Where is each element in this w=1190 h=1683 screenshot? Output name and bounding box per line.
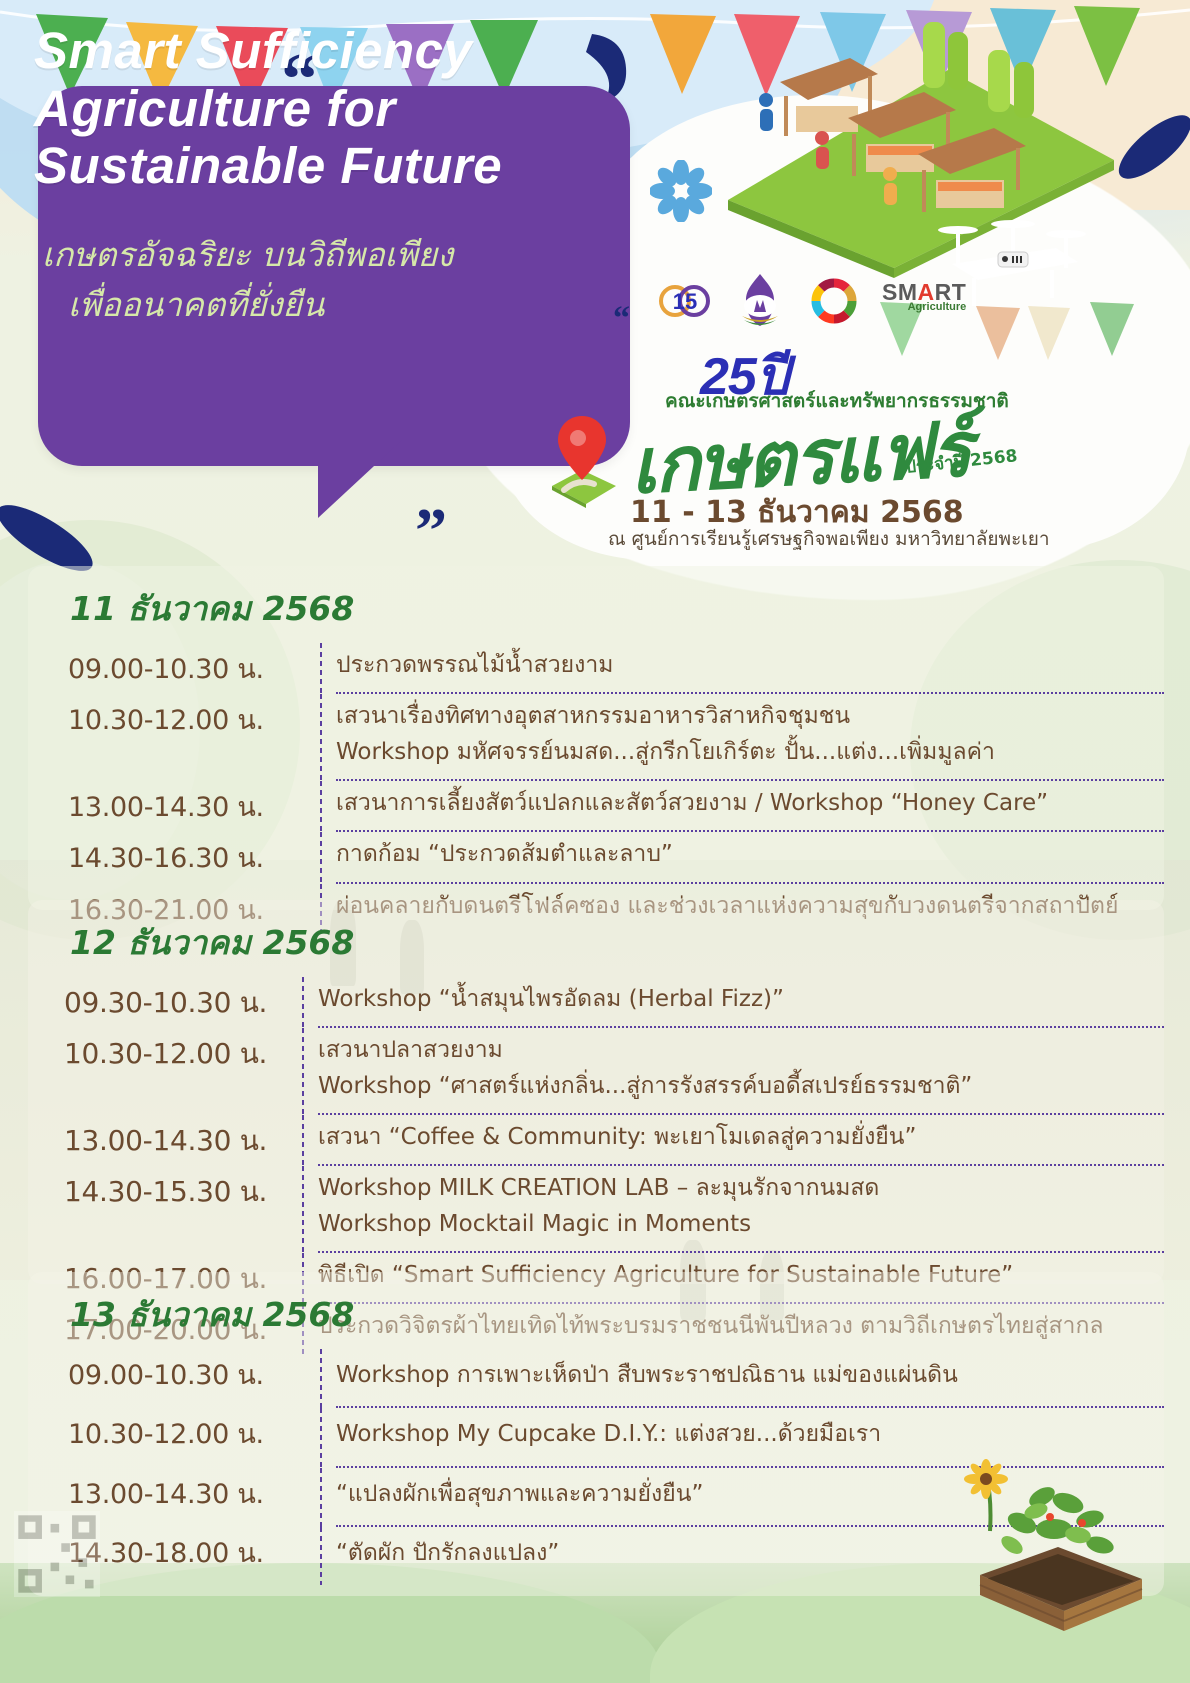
day-2-title: 12 ธันวาคม 2568	[70, 916, 1164, 969]
logo-university-of-phayao	[734, 272, 786, 330]
logo-15-years: 15	[658, 274, 712, 328]
poster-headline: Smart Sufficiency Agriculture for Sustai…	[34, 22, 594, 195]
schedule-row: 13.00-14.30 น. เสวนา “Coffee & Community…	[64, 1115, 1164, 1166]
poster-canvas: “ “ ” Smart Sufficiency Agriculture for …	[0, 0, 1190, 1683]
row-time: 13.00-14.30 น.	[68, 781, 320, 828]
row-divider	[320, 694, 322, 781]
row-time: 09.00-10.30 น.	[68, 643, 320, 690]
schedule-row: 09.30-10.30 น. Workshop “น้ำสมุนไพรอัดลม…	[64, 977, 1164, 1028]
schedule-row: 09.00-10.30 น. Workshop การเพาะเห็ดป่า ส…	[68, 1349, 1164, 1408]
row-description: เสวนาเรื่องทิศทางอุตสาหกรรมอาหารวิสาหกิจ…	[336, 694, 1164, 781]
row-divider	[302, 977, 304, 1028]
schedule-row: 14.30-16.30 น. กาดก้อม “ประกวดส้มตำและลา…	[68, 832, 1164, 883]
row-divider	[320, 1408, 322, 1467]
row-item: Workshop My Cupcake D.I.Y.: แต่งสวย...ด้…	[336, 1418, 1158, 1451]
row-divider	[302, 1028, 304, 1115]
row-item: Workshop มหัศจรรย์นมสด...สู่กรีกโยเกิร์ต…	[336, 736, 1158, 769]
schedule-row: 13.00-14.30 น. เสวนาการเลี้ยงสัตว์แปลกแล…	[68, 781, 1164, 832]
row-time: 13.00-14.30 น.	[64, 1115, 302, 1163]
row-divider	[302, 1115, 304, 1166]
row-time: 14.30-15.30 น.	[64, 1166, 302, 1214]
row-item: Workshop การเพาะเห็ดป่า สืบพระราชปณิธาน …	[336, 1359, 1158, 1392]
row-time: 14.30-16.30 น.	[68, 832, 320, 879]
row-description: Workshop การเพาะเห็ดป่า สืบพระราชปณิธาน …	[336, 1349, 1164, 1408]
schedule-row: 09.00-10.30 น. ประกวดพรรณไม้น้ำสวยงาม	[68, 643, 1164, 694]
row-description: ประกวดพรรณไม้น้ำสวยงาม	[336, 643, 1164, 694]
row-time: 10.30-12.00 น.	[64, 1028, 302, 1076]
day-3-title: 13 ธันวาคม 2568	[70, 1288, 1164, 1341]
row-divider	[320, 1349, 322, 1408]
headline-bubble-tail	[318, 440, 402, 518]
row-description: เสวนา “Coffee & Community: พะเยาโมเดลสู่…	[318, 1115, 1164, 1166]
row-time: 09.30-10.30 น.	[64, 977, 302, 1025]
headline-line-3: Sustainable Future	[34, 137, 594, 195]
row-divider	[320, 1468, 322, 1527]
row-divider	[320, 1527, 322, 1585]
svg-text:15: 15	[673, 289, 697, 314]
headline-line-1: Smart Sufficiency	[34, 22, 594, 80]
row-item: Workshop “น้ำสมุนไพรอัดลม (Herbal Fizz)”	[318, 983, 1158, 1016]
row-time: 13.00-14.30 น.	[68, 1468, 320, 1515]
row-divider	[320, 781, 322, 832]
row-description: เสวนาการเลี้ยงสัตว์แปลกและสัตว์สวยงาม / …	[336, 781, 1164, 832]
logo-strip: 15 SMART Agriculture	[658, 272, 966, 330]
headline-thai-line-1: เกษตรอัจฉริยะ บนวิถีพอเพียง	[42, 230, 602, 280]
row-item: กาดก้อม “ประกวดส้มตำและลาบ”	[336, 838, 1158, 871]
qr-code-icon	[14, 1511, 100, 1597]
schedule-row: 10.30-12.00 น. เสวนาเรื่องทิศทางอุตสาหกร…	[68, 694, 1164, 781]
row-item: ประกวดพรรณไม้น้ำสวยงาม	[336, 649, 1158, 682]
schedule-row: 14.30-15.30 น. Workshop MILK CREATION LA…	[64, 1166, 1164, 1253]
row-divider	[302, 1166, 304, 1253]
schedule-day-1: 11 ธันวาคม 2568 09.00-10.30 น. ประกวดพรร…	[28, 566, 1164, 910]
row-description: Workshop MILK CREATION LAB – ละมุนรักจาก…	[318, 1166, 1164, 1253]
row-divider	[320, 832, 322, 883]
row-description: เสวนาปลาสวยงาม Workshop “ศาสตร์แห่งกลิ่น…	[318, 1028, 1164, 1115]
flower-icon	[650, 160, 712, 222]
row-description: Workshop “น้ำสมุนไพรอัดลม (Herbal Fizz)”	[318, 977, 1164, 1028]
row-time: 14.30-18.00 น.	[68, 1527, 320, 1574]
day-1-title: 11 ธันวาคม 2568	[70, 582, 1164, 635]
quote-close-mark: ”	[415, 512, 447, 550]
row-item: เสวนาปลาสวยงาม	[318, 1034, 1158, 1067]
headline-thai-line-2: เพื่ออนาคตที่ยั่งยืน	[68, 280, 602, 330]
schedule-row: 10.30-12.00 น. เสวนาปลาสวยงาม Workshop “…	[64, 1028, 1164, 1115]
day-1-rows: 09.00-10.30 น. ประกวดพรรณไม้น้ำสวยงาม 10…	[68, 643, 1164, 933]
row-item: เสวนาเรื่องทิศทางอุตสาหกรรมอาหารวิสาหกิจ…	[336, 700, 1158, 733]
row-item: Workshop MILK CREATION LAB – ละมุนรักจาก…	[318, 1172, 1158, 1205]
row-time: 10.30-12.00 น.	[68, 1408, 320, 1455]
logo-sdg-wheel	[808, 275, 860, 327]
row-item: Workshop “ศาสตร์แห่งกลิ่น...สู่การรังสรร…	[318, 1070, 1158, 1103]
schedule-day-2: 12 ธันวาคม 2568 09.30-10.30 น. Workshop …	[28, 900, 1164, 1284]
row-divider	[320, 643, 322, 694]
row-item: เสวนาการเลี้ยงสัตว์แปลกและสัตว์สวยงาม / …	[336, 787, 1158, 820]
row-time: 09.00-10.30 น.	[68, 1349, 320, 1396]
row-time: 10.30-12.00 น.	[68, 694, 320, 741]
location-pin-icon	[548, 412, 620, 508]
row-item: เสวนา “Coffee & Community: พะเยาโมเดลสู่…	[318, 1121, 1158, 1154]
raised-garden-bed-icon	[950, 1453, 1150, 1643]
headline-line-2: Agriculture for	[34, 80, 594, 138]
row-item: Workshop Mocktail Magic in Moments	[318, 1208, 1158, 1241]
event-venue: ณ ศูนย์การเรียนรู้เศรษฐกิจพอเพียง มหาวิท…	[608, 524, 1050, 554]
poster-headline-thai: เกษตรอัจฉริยะ บนวิถีพอเพียง เพื่ออนาคตที…	[42, 230, 602, 329]
quote-mini-mark: “	[613, 300, 630, 338]
row-description: กาดก้อม “ประกวดส้มตำและลาบ”	[336, 832, 1164, 883]
logo-smart-agriculture: SMART Agriculture	[882, 281, 966, 321]
